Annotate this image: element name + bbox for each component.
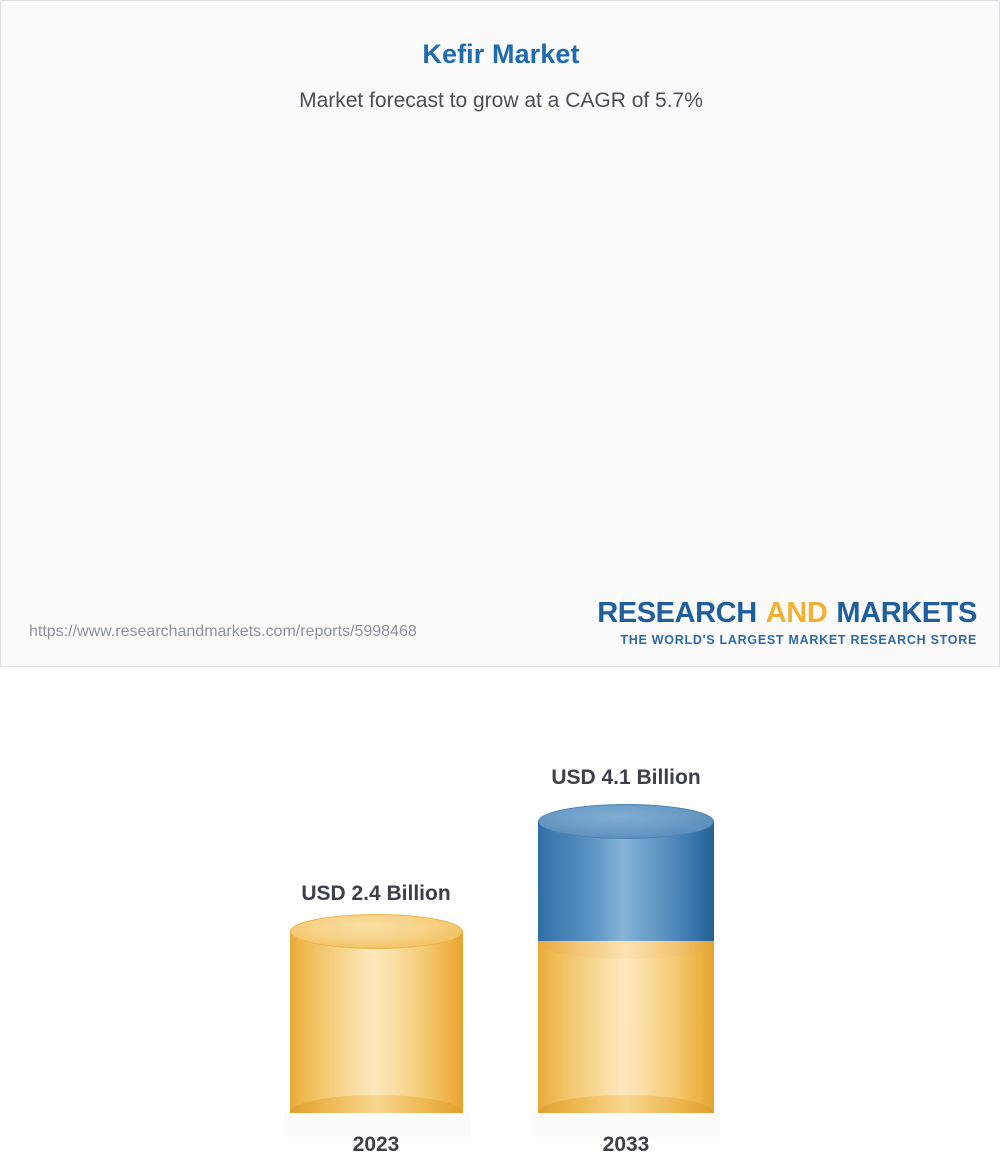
- cylinder-blue-side-2033: [538, 821, 714, 941]
- brand-wordmark: RESEARCHANDMARKETS: [597, 599, 977, 628]
- source-url[interactable]: https://www.researchandmarkets.com/repor…: [29, 623, 417, 641]
- cylinder-body-2033: [538, 821, 714, 1113]
- cylinder-body-2023: [290, 931, 463, 1113]
- bar-value-label-2033: USD 4.1 Billion: [466, 766, 786, 790]
- cylinder-top-cap-2023: [290, 914, 463, 949]
- brand-tagline: THE WORLD'S LARGEST MARKET RESEARCH STOR…: [597, 633, 977, 647]
- brand-word-markets: MARKETS: [836, 597, 977, 629]
- brand-word-research: RESEARCH: [597, 597, 757, 629]
- plot-area: USD 2.4 Billion 2023 USD 4.1 Billion: [1, 1, 1000, 601]
- bar-category-label-2033: 2033: [466, 1133, 786, 1157]
- brand-word-and: AND: [766, 597, 828, 629]
- bar-value-label-2023: USD 2.4 Billion: [216, 882, 536, 906]
- chart-canvas: Kefir Market Market forecast to grow at …: [0, 0, 1000, 667]
- cylinder-gold-side-2023: [290, 931, 463, 1113]
- cylinder-top-cap-2033: [538, 804, 714, 839]
- cylinder-gold-side-2033: [538, 941, 714, 1113]
- brand-logo[interactable]: RESEARCHANDMARKETS THE WORLD'S LARGEST M…: [597, 599, 977, 647]
